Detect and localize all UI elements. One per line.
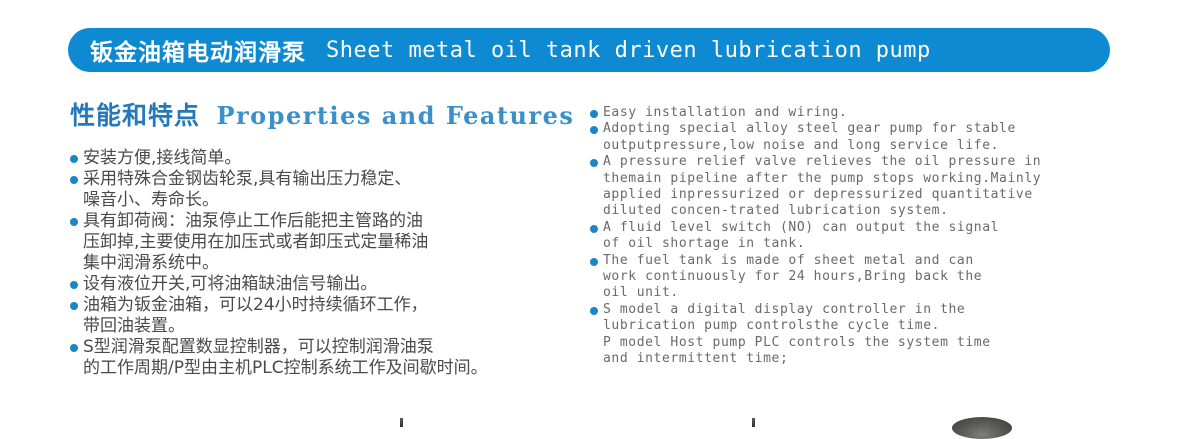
list-item-label: S型润滑泵配置数显控制器，可以控制润滑油泵 的工作周期/P型由主机PLC控制系统… <box>83 337 488 379</box>
list-item: Easy installation and wiring. <box>590 105 1110 121</box>
list-item: A pressure relief valve relieves the oil… <box>590 154 1110 220</box>
list-item: Adopting special alloy steel gear pump f… <box>590 121 1110 154</box>
bullet-dot-icon <box>590 225 598 233</box>
list-item-label: 采用特殊合金钢齿轮泵,具有输出压力稳定、 噪音小、寿命长。 <box>83 169 411 211</box>
bullet-dot-icon <box>70 218 78 226</box>
bullet-dot-icon <box>70 176 78 184</box>
banner-title-chinese: 钣金油箱电动润滑泵 <box>90 33 306 67</box>
list-item-label: 安装方便,接线简单。 <box>83 148 241 169</box>
bullet-dot-icon <box>70 302 78 310</box>
list-item-label: 油箱为钣金油箱，可以24小时持续循环工作， 带回油装置。 <box>83 295 428 337</box>
section-heading: 性能和特点 Properties and Features <box>70 96 574 132</box>
list-item-label: A fluid level switch (NO) can output the… <box>603 220 999 253</box>
bullet-dot-icon <box>590 258 598 266</box>
list-item: The fuel tank is made of sheet metal and… <box>590 253 1110 302</box>
product-photo-crop-middle <box>752 418 755 427</box>
list-item-label: The fuel tank is made of sheet metal and… <box>603 253 982 302</box>
features-list-english: Easy installation and wiring. Adopting s… <box>590 105 1110 368</box>
list-item: S model a digital display controller in … <box>590 302 1110 368</box>
list-item: 采用特殊合金钢齿轮泵,具有输出压力稳定、 噪音小、寿命长。 <box>70 169 575 211</box>
bullet-dot-icon <box>590 126 598 134</box>
bullet-dot-icon <box>70 281 78 289</box>
product-feature-page: { "header": { "title_cn": "钣金油箱电动润滑泵", "… <box>0 0 1186 427</box>
bullet-dot-icon <box>590 159 598 167</box>
list-item-label: Adopting special alloy steel gear pump f… <box>603 121 1016 154</box>
list-item: 油箱为钣金油箱，可以24小时持续循环工作， 带回油装置。 <box>70 295 575 337</box>
list-item-label: 设有液位开关,可将油箱缺油信号输出。 <box>83 274 377 295</box>
bullet-dot-icon <box>590 110 598 118</box>
list-item: 设有液位开关,可将油箱缺油信号输出。 <box>70 274 575 295</box>
list-item: A fluid level switch (NO) can output the… <box>590 220 1110 253</box>
list-item: 安装方便,接线简单。 <box>70 148 575 169</box>
list-item-label: 具有卸荷阀：油泵停止工作后能把主管路的油 压卸掉,主要使用在加压式或者卸压式定量… <box>83 211 428 274</box>
list-item-label: S model a digital display controller in … <box>603 302 991 368</box>
list-item-label: A pressure relief valve relieves the oil… <box>603 154 1041 220</box>
section-heading-english: Properties and Features <box>216 101 574 130</box>
bullet-dot-icon <box>70 155 78 163</box>
product-photo-crop-left <box>400 418 403 427</box>
product-title-banner: 钣金油箱电动润滑泵 Sheet metal oil tank driven lu… <box>68 28 1110 72</box>
bullet-dot-icon <box>70 344 78 352</box>
list-item-label: Easy installation and wiring. <box>603 105 847 121</box>
section-heading-chinese: 性能和特点 <box>70 101 200 130</box>
product-photo-crop-right <box>952 417 1012 439</box>
list-item: 具有卸荷阀：油泵停止工作后能把主管路的油 压卸掉,主要使用在加压式或者卸压式定量… <box>70 211 575 274</box>
bullet-dot-icon <box>590 307 598 315</box>
banner-title-english: Sheet metal oil tank driven lubrication … <box>326 38 931 63</box>
list-item: S型润滑泵配置数显控制器，可以控制润滑油泵 的工作周期/P型由主机PLC控制系统… <box>70 337 575 379</box>
features-list-chinese: 安装方便,接线简单。 采用特殊合金钢齿轮泵,具有输出压力稳定、 噪音小、寿命长。… <box>70 148 575 379</box>
